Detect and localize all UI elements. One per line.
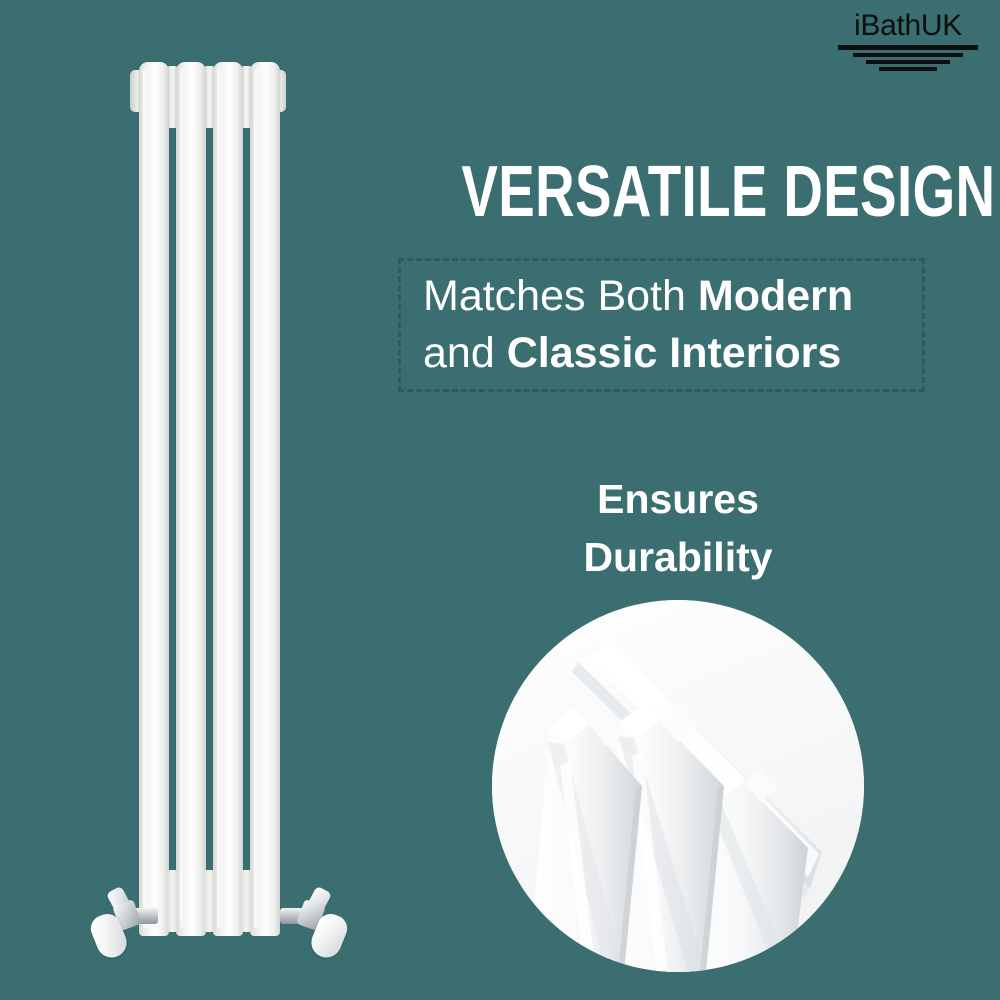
feature-text: Ensures Durability: [478, 470, 878, 586]
subtitle-line-2-bold: Classic Interiors: [507, 329, 842, 377]
subtitle-line-2-regular: and: [423, 329, 507, 377]
brand-logo-text: iBathUK: [838, 10, 978, 42]
subtitle-box: Matches Both Modern and Classic Interior…: [398, 258, 925, 392]
logo-rule-3: [866, 60, 950, 64]
logo-rule-1: [838, 45, 978, 50]
radiator-panel: [250, 62, 280, 936]
radiator-product-image: [139, 62, 277, 936]
brand-logo: iBathUK: [838, 10, 978, 74]
feature-line-1: Ensures: [478, 470, 878, 528]
radiator-valve-left: [90, 880, 160, 990]
headline: VERSATILE DESIGN: [461, 156, 862, 228]
feature-line-2: Durability: [478, 528, 878, 586]
radiator-panel: [139, 62, 169, 936]
detail-close-up-circle: [492, 600, 864, 972]
radiator-connector-bottom-3: [241, 870, 252, 932]
radiator-panel: [176, 62, 206, 936]
subtitle-line-1-bold: Modern: [698, 272, 853, 320]
logo-rule-4: [879, 67, 938, 71]
radiator-panel: [213, 62, 243, 936]
radiator-close-up-illustration: [492, 600, 864, 972]
radiator-valve-right: [278, 880, 348, 990]
subtitle-line-1-regular: Matches Both: [423, 272, 698, 320]
logo-rule-2: [853, 53, 962, 57]
subtitle-line-2: and Classic Interiors: [423, 325, 922, 382]
poster-canvas: iBathUK VERSATILE DESIGN: [0, 0, 1000, 1000]
radiator-connector-bottom-2: [204, 870, 215, 932]
brand-logo-rules: [838, 45, 978, 71]
radiator-connector-bottom-1: [167, 870, 178, 932]
subtitle-line-1: Matches Both Modern: [423, 268, 922, 325]
